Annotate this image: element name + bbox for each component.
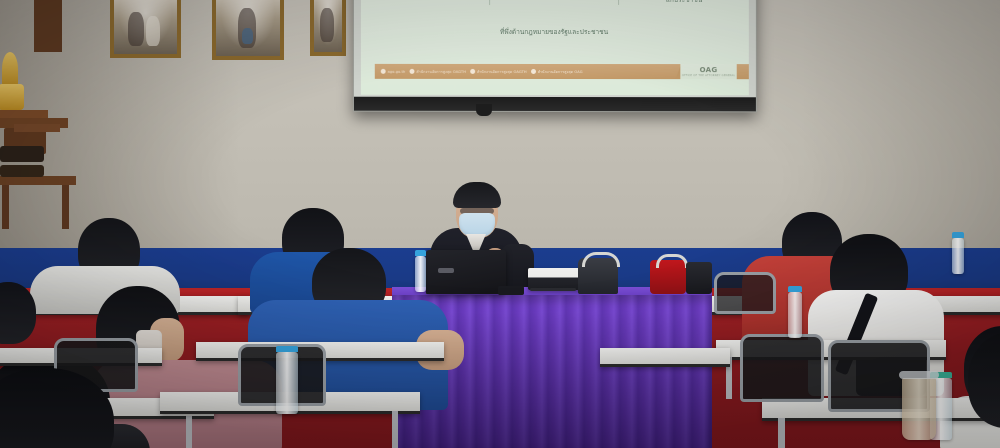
cup-lid-icon [899,371,939,379]
portrait-figure-2b [242,28,253,44]
bag-red-handle [656,254,688,268]
bag-black-right [686,262,712,294]
bottle-cap-icon-2 [276,346,298,352]
wall-pillar-left [34,0,62,52]
twitter-icon [470,69,475,74]
oag-logo: OAG OFFICE OF THE ATTORNEY GENERAL [680,64,736,79]
portrait-frame-2 [212,0,284,60]
footer-handle-4: สำนักงานอัยการสูงสุด OAG [538,68,583,74]
water-bottle-right-back [788,292,802,338]
bottle-cap-icon-3 [788,286,802,292]
altar-dark-panel-2 [0,165,44,177]
altar-pedestal [0,84,24,110]
phone-on-desk [498,286,524,295]
chair-right-red [740,334,824,402]
portrait-figure-3 [320,8,334,42]
slide-tagline: ที่พึ่งด้านกฎหมายของรัฐและประชาชน [361,26,749,37]
footer-social-4: สำนักงานอัยการสูงสุด OAG [531,68,583,74]
water-bottle-desk [415,256,426,292]
projection-screen: อำนวยความยุติธรรม ทางอาญา รักษาผลประโยชน… [353,0,757,112]
altar-dark-panel [0,146,44,162]
slide-column-2: รักษาผลประโยชน์ ของรัฐ [489,0,619,5]
altar-stand-b [14,124,60,132]
cable-on-desk [530,288,576,291]
table-far-right [600,348,730,367]
speaker-face-mask [459,213,495,237]
chair-back-right [714,272,776,314]
slide-column-1: อำนวยความยุติธรรม ทางอาญา [361,0,489,5]
portrait-figure-1 [128,12,144,46]
altar-shelf-top [0,110,48,118]
altar-lower-table [0,176,76,185]
globe-icon [381,69,386,74]
bag-dark-handle [582,252,620,267]
bottle-cap-icon [415,250,426,256]
photo-scene: อำนวยความยุติธรรม ทางอาญา รักษาผลประโยชน… [0,0,1000,448]
slide-columns: อำนวยความยุติธรรม ทางอาญา รักษาผลประโยชน… [361,0,749,5]
youtube-icon [531,69,536,74]
oag-logo-subtext: OFFICE OF THE ATTORNEY GENERAL [682,74,735,77]
oag-logo-text: OAG [700,66,718,74]
table-leg-right-lower [778,418,785,448]
slide-surface: อำนวยความยุติธรรม ทางอาญา รักษาผลประโยชน… [361,0,749,95]
footer-handle-3: สำนักงานอัยการสูงสุด OAGTH [477,68,527,74]
screen-roller-knob [476,104,492,116]
table-leg-front-left [186,416,192,448]
footer-handle-2: สำนักงานอัยการสูงสุด OAGTH [416,68,466,74]
footer-social-3: สำนักงานอัยการสูงสุด OAGTH [470,68,527,74]
footer-social-1: ago.go.th [381,69,406,74]
altar-leg-right [62,185,69,229]
laptop-logo [438,268,454,273]
facebook-icon [409,69,414,74]
buddha-figure [2,52,18,86]
slide-column-3: คุ้มครองสิทธิและ ช่วยเหลือทางกฎหมาย แก่ป… [618,0,748,5]
footer-social-2: สำนักงานอัยการสูงสุด OAGTH [409,68,466,74]
bottle-cap-icon-4 [952,232,964,238]
portrait-frame-3 [310,0,346,56]
portrait-frame-1 [110,0,181,58]
altar-leg-left [2,185,9,229]
table-leg-mid-center [392,411,398,448]
water-bottle-front-center [276,352,298,414]
slide-col3-line3: แก่ประชาชน [625,0,742,5]
iced-coffee-cup [902,378,936,440]
portrait-figure-1b [146,16,160,46]
water-bottle-far-right [952,238,964,274]
footer-handle-1: ago.go.th [388,69,406,73]
screen-bottom-bar [354,97,756,112]
